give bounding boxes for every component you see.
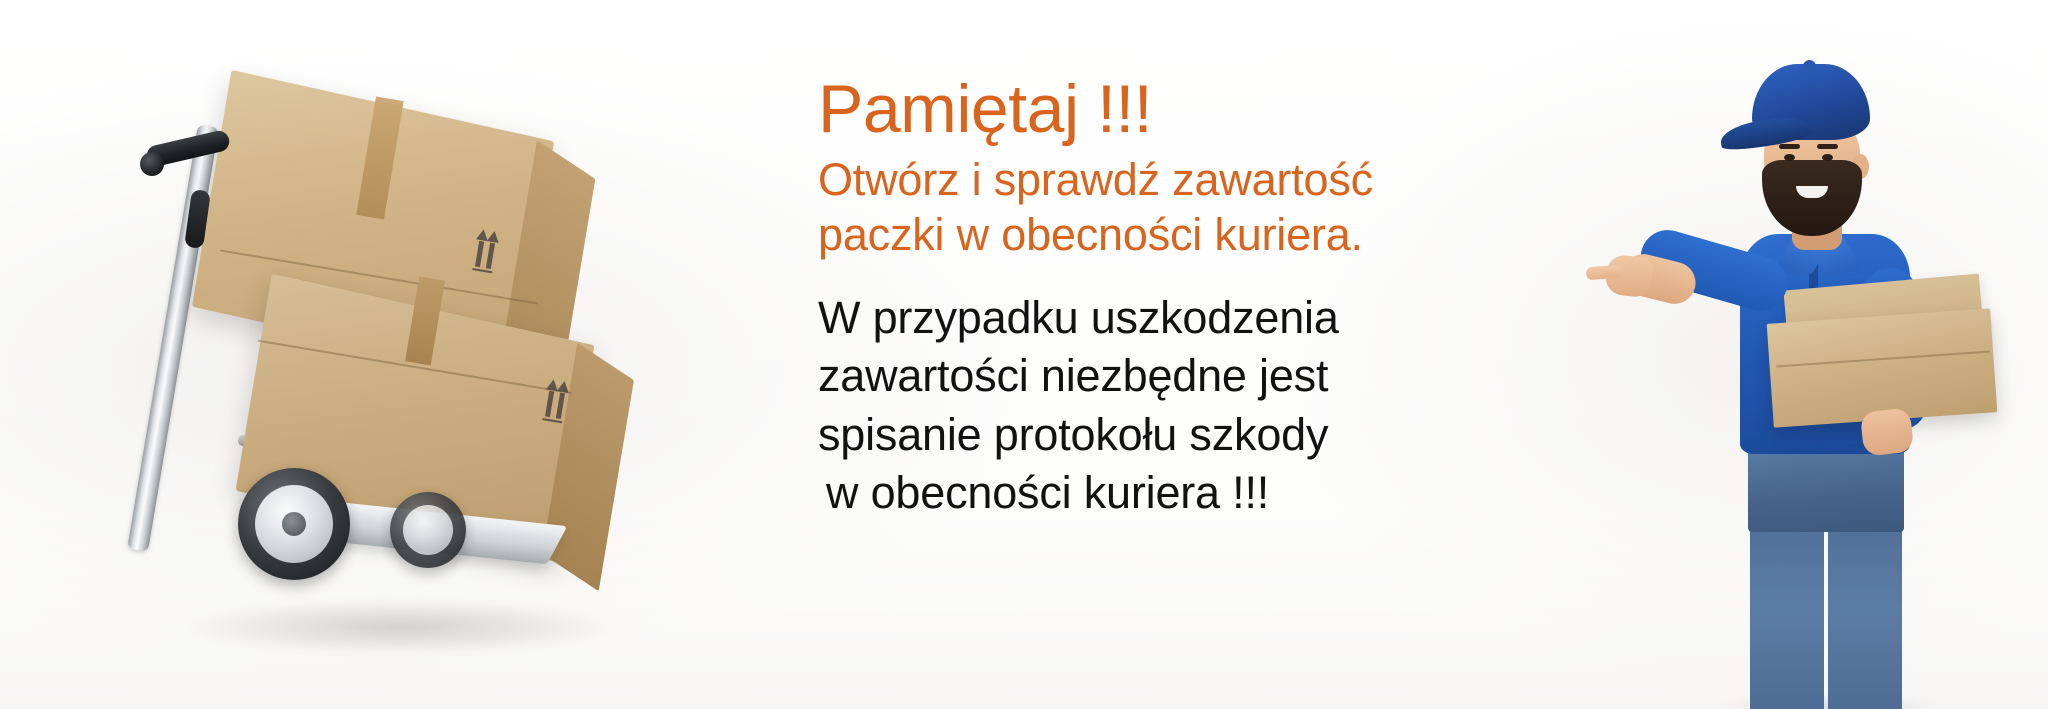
courier-hand-holding (1860, 408, 1914, 457)
courier-beard (1762, 160, 1862, 236)
subheadline-line-1: Otwórz i sprawdź zawartość (818, 153, 1438, 208)
body-text-line-1: W przypadku uszkodzenia (818, 289, 1438, 348)
body-text: W przypadku uszkodzenia zawartości niezb… (818, 289, 1438, 523)
courier-cap-button (1803, 60, 1816, 73)
delivery-notice-banner: Pamiętaj !!! Otwórz i sprawdź zawartość … (0, 0, 2048, 709)
courier-illustration (1600, 58, 2030, 709)
body-text-line-3: spisanie protokołu szkody (818, 406, 1438, 465)
courier-pointing-finger (1586, 265, 1623, 280)
hand-truck-handle-end-cap (140, 152, 164, 176)
body-text-line-4: w obecności kuriera !!! (818, 464, 1438, 523)
body-text-line-2: zawartości niezbędne jest (818, 347, 1438, 406)
courier-eye-left (1784, 154, 1795, 161)
courier-eyebrow-left (1779, 144, 1800, 149)
headline-pamietaj: Pamiętaj !!! (818, 74, 1438, 145)
courier-jeans-leg-left (1750, 520, 1824, 709)
hand-truck-wheel-rear (390, 492, 466, 568)
courier-jeans-leg-right (1828, 520, 1902, 709)
hand-truck-frame-rail-left (127, 124, 219, 552)
hand-truck-illustration (60, 40, 680, 670)
this-way-up-arrows-icon (532, 373, 579, 425)
courier-eyebrow-right (1817, 144, 1838, 149)
hand-truck-wheel-front (238, 468, 350, 580)
message-text-block: Pamiętaj !!! Otwórz i sprawdź zawartość … (818, 74, 1438, 523)
subheadline: Otwórz i sprawdź zawartość paczki w obec… (818, 153, 1438, 263)
courier-eye-right (1822, 154, 1833, 161)
hand-truck-ground-shadow (190, 600, 610, 654)
subheadline-line-2: paczki w obecności kuriera. (818, 208, 1438, 263)
this-way-up-arrows-icon (462, 223, 509, 275)
